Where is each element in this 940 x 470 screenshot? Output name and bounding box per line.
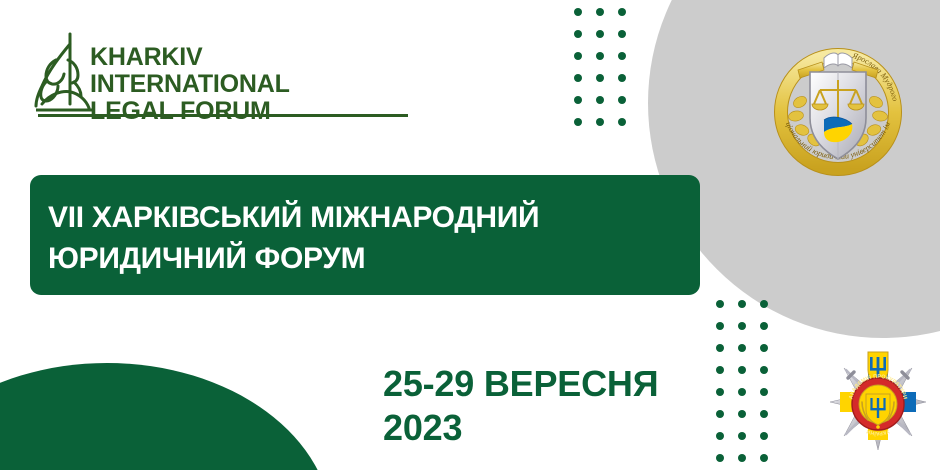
dot bbox=[716, 410, 724, 418]
dot bbox=[760, 322, 768, 330]
dot bbox=[574, 30, 582, 38]
dot bbox=[738, 454, 746, 462]
dot bbox=[760, 454, 768, 462]
dot bbox=[574, 52, 582, 60]
tree-leaf-icon bbox=[30, 30, 96, 114]
dot bbox=[738, 432, 746, 440]
logo-underline-rule bbox=[38, 114, 408, 117]
yaroslav-mudryi-university-emblem-icon: Національний юридичний університет імені… bbox=[762, 28, 914, 180]
dot bbox=[618, 118, 626, 126]
dot bbox=[596, 118, 604, 126]
forum-logo-text: KHARKIV INTERNATIONAL LEGAL FORUM bbox=[90, 44, 390, 125]
dot bbox=[760, 366, 768, 374]
dot bbox=[760, 300, 768, 308]
dot bbox=[596, 96, 604, 104]
dot bbox=[596, 30, 604, 38]
dot bbox=[760, 432, 768, 440]
green-circle-decoration bbox=[0, 363, 332, 470]
dot bbox=[738, 366, 746, 374]
dot bbox=[716, 366, 724, 374]
dot bbox=[596, 74, 604, 82]
dot bbox=[760, 410, 768, 418]
poster-canvas: KHARKIV INTERNATIONAL LEGAL FORUM VII ХА… bbox=[0, 0, 940, 470]
dot bbox=[716, 432, 724, 440]
forum-logo: KHARKIV INTERNATIONAL LEGAL FORUM bbox=[30, 30, 390, 118]
dot bbox=[574, 118, 582, 126]
dot bbox=[618, 52, 626, 60]
dot bbox=[574, 8, 582, 16]
dot bbox=[716, 454, 724, 462]
dot bbox=[760, 344, 768, 352]
forum-date-text: 25-29 ВЕРЕСНЯ 2023 bbox=[383, 362, 658, 450]
dot bbox=[738, 300, 746, 308]
dot bbox=[716, 322, 724, 330]
dot bbox=[716, 300, 724, 308]
dot bbox=[618, 74, 626, 82]
dot bbox=[596, 52, 604, 60]
dot bbox=[596, 8, 604, 16]
prosecutors-academy-emblem-icon: АКАДЕМІЯ ПРОКУРАТУРИ УКРАЇНИ bbox=[824, 348, 932, 456]
dot bbox=[738, 322, 746, 330]
dot bbox=[716, 388, 724, 396]
dot bbox=[738, 344, 746, 352]
dot-grid-bottom bbox=[716, 300, 782, 470]
forum-title-text: VII ХАРКІВСЬКИЙ МІЖНАРОДНИЙ ЮРИДИЧНИЙ ФО… bbox=[48, 197, 700, 279]
dot bbox=[738, 388, 746, 396]
dot bbox=[618, 96, 626, 104]
dot bbox=[760, 388, 768, 396]
dot bbox=[574, 74, 582, 82]
dot bbox=[618, 30, 626, 38]
dot bbox=[574, 96, 582, 104]
dot-grid-top bbox=[574, 0, 640, 140]
dot bbox=[716, 344, 724, 352]
dot bbox=[738, 410, 746, 418]
forum-title-banner: VII ХАРКІВСЬКИЙ МІЖНАРОДНИЙ ЮРИДИЧНИЙ ФО… bbox=[30, 175, 700, 295]
dot bbox=[618, 8, 626, 16]
